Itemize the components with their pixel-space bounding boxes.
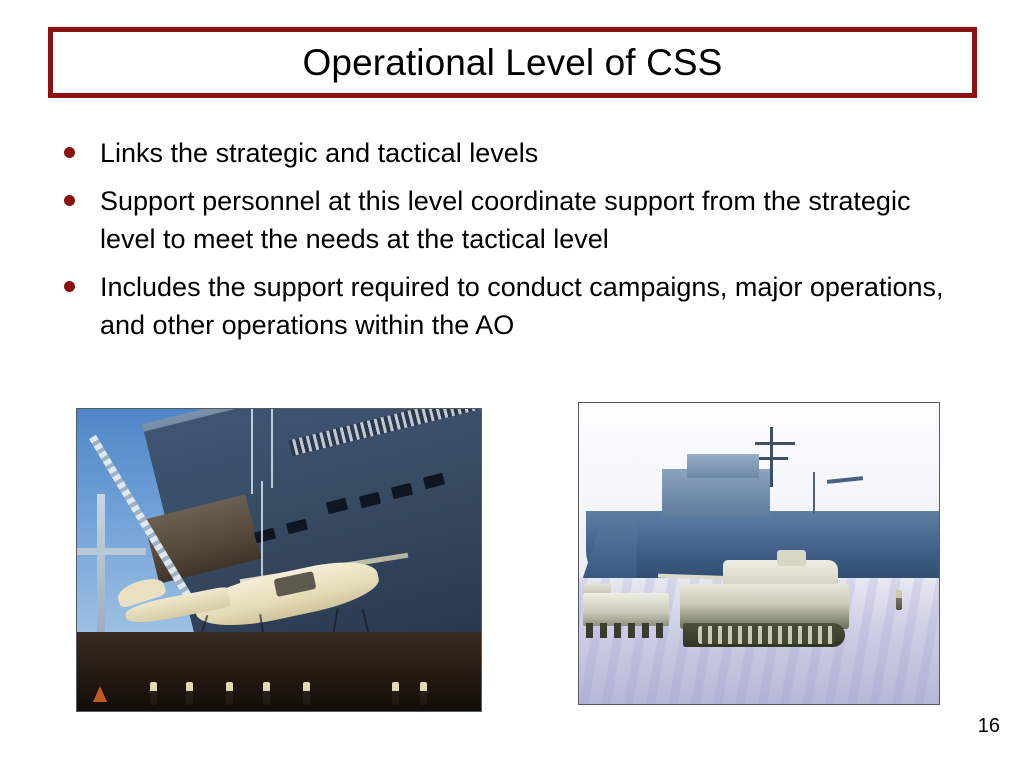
ship-flagpole [813, 472, 815, 514]
military-truck [583, 593, 669, 626]
lift-cable [251, 409, 253, 494]
lift-cable [271, 409, 273, 488]
bullet-dot-icon [64, 281, 75, 292]
ship-mast-yard [755, 442, 795, 445]
truck-wheels [586, 623, 665, 638]
photo-scene-right [579, 403, 939, 704]
page-number: 16 [978, 715, 1000, 738]
list-item: Support personnel at this level coordina… [56, 182, 956, 258]
slide-canvas: Operational Level of CSS Links the strat… [0, 0, 1024, 768]
dock-worker [303, 682, 310, 705]
bullet-list: Links the strategic and tactical levels … [56, 134, 956, 344]
dock-worker [150, 682, 157, 705]
dock-worker [392, 682, 399, 705]
dock-worker [420, 682, 427, 705]
tank-road-wheels [698, 626, 835, 644]
bullet-dot-icon [64, 147, 75, 158]
list-item: Links the strategic and tactical levels [56, 134, 956, 172]
helicopter-loading-onto-ship-photo [76, 408, 482, 712]
bullet-text: Support personnel at this level coordina… [100, 182, 956, 258]
dock-worker [186, 682, 193, 705]
ship-mast-yard [759, 457, 788, 460]
ship-bridge [687, 454, 759, 478]
dock-worker [226, 682, 233, 705]
bullet-dot-icon [64, 195, 75, 206]
traffic-cone [93, 686, 107, 702]
lift-cable [261, 481, 263, 578]
bullet-text: Includes the support required to conduct… [100, 268, 956, 344]
dockside-crane-crossbeam [77, 548, 146, 555]
list-item: Includes the support required to conduct… [56, 268, 956, 344]
photo-scene-left [77, 409, 481, 711]
tank-hatch [777, 550, 806, 565]
slide-title-box: Operational Level of CSS [48, 27, 977, 98]
tank-and-trucks-at-ship-photo [578, 402, 940, 705]
tank-hull [680, 584, 849, 629]
bullet-text: Links the strategic and tactical levels [100, 134, 956, 172]
page-title: Operational Level of CSS [303, 44, 723, 81]
dock-worker [263, 682, 270, 705]
soldier [896, 590, 902, 610]
